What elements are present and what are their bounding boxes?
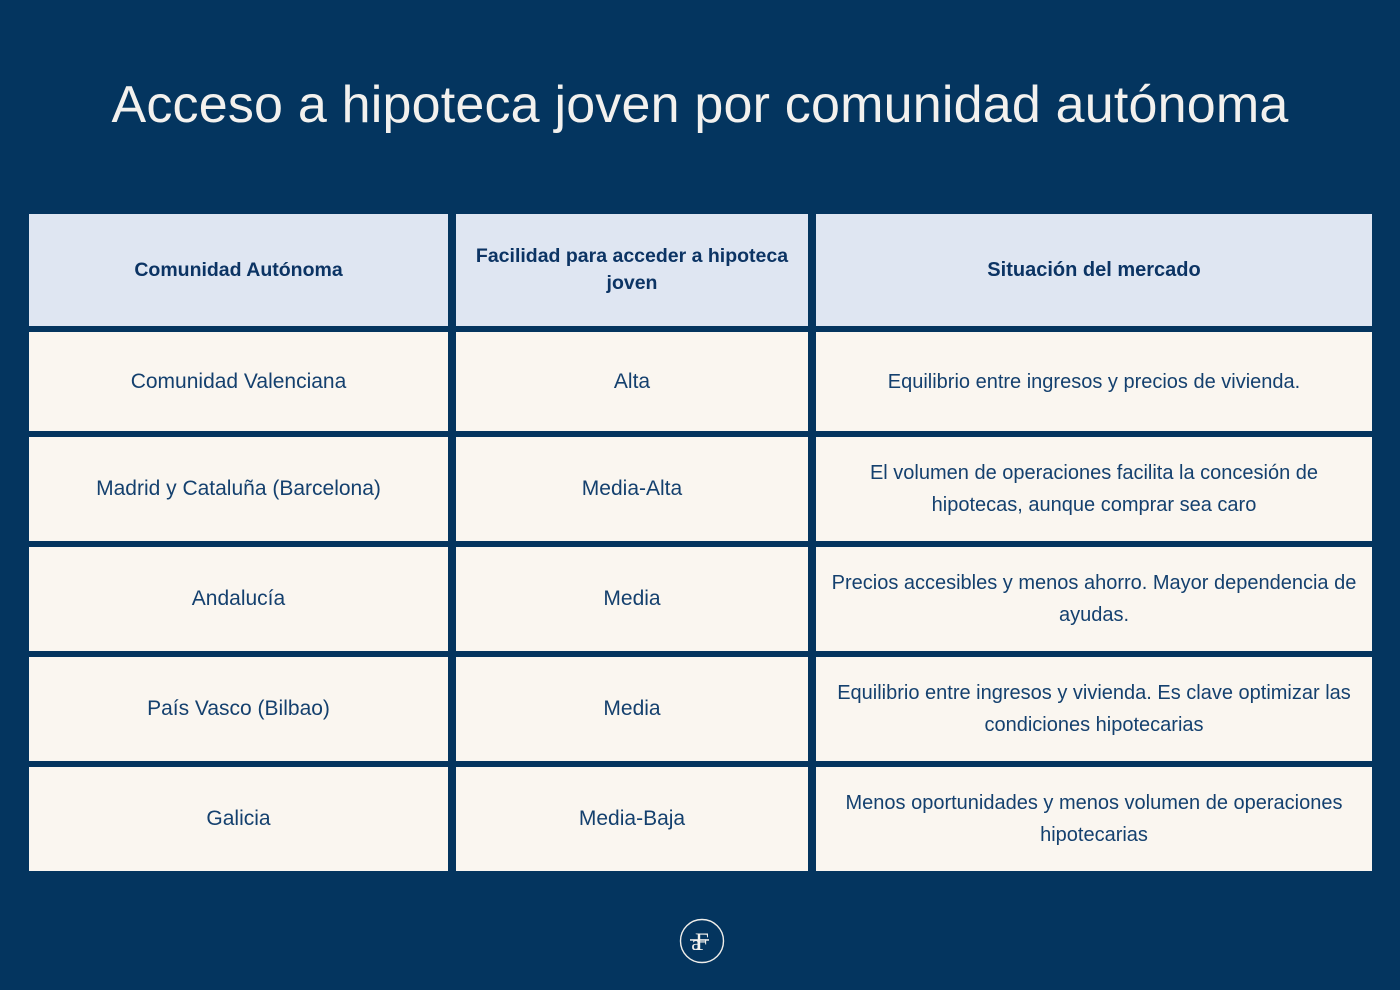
- table-row: Galicia Media-Baja Menos oportunidades y…: [29, 767, 1372, 871]
- cell-facilidad: Media-Baja: [456, 767, 808, 871]
- cell-situacion: El volumen de operaciones facilita la co…: [816, 437, 1372, 541]
- cell-comunidad: Comunidad Valenciana: [29, 332, 448, 431]
- cell-comunidad-text: País Vasco (Bilbao): [147, 693, 330, 725]
- comparison-table: Comunidad Autónoma Facilidad para accede…: [29, 214, 1372, 871]
- cell-situacion-text: Menos oportunidades y menos volumen de o…: [830, 787, 1358, 851]
- page-title: Acceso a hipoteca joven por comunidad au…: [0, 74, 1400, 136]
- cell-comunidad-text: Andalucía: [192, 583, 285, 615]
- table-row: País Vasco (Bilbao) Media Equilibrio ent…: [29, 657, 1372, 761]
- cell-facilidad: Media-Alta: [456, 437, 808, 541]
- cell-facilidad-text: Alta: [614, 366, 650, 398]
- cell-situacion-text: Equilibrio entre ingresos y vivienda. Es…: [830, 677, 1358, 741]
- cell-comunidad: Galicia: [29, 767, 448, 871]
- cell-facilidad-text: Media: [603, 693, 660, 725]
- cell-facilidad-text: Media-Alta: [582, 473, 682, 505]
- cell-situacion: Precios accesibles y menos ahorro. Mayor…: [816, 547, 1372, 651]
- cell-comunidad-text: Madrid y Cataluña (Barcelona): [96, 473, 381, 505]
- cell-facilidad: Media: [456, 547, 808, 651]
- column-header-facilidad: Facilidad para acceder a hipoteca joven: [456, 214, 808, 326]
- af-monogram-logo-icon: F a: [678, 917, 726, 965]
- column-header-facilidad-label: Facilidad para acceder a hipoteca joven: [470, 243, 794, 297]
- column-header-comunidad-label: Comunidad Autónoma: [134, 257, 342, 284]
- cell-situacion-text: Precios accesibles y menos ahorro. Mayor…: [830, 567, 1358, 631]
- cell-comunidad-text: Comunidad Valenciana: [131, 366, 347, 398]
- cell-facilidad: Media: [456, 657, 808, 761]
- cell-situacion-text: Equilibrio entre ingresos y precios de v…: [888, 366, 1300, 398]
- cell-comunidad: Madrid y Cataluña (Barcelona): [29, 437, 448, 541]
- cell-comunidad: Andalucía: [29, 547, 448, 651]
- cell-situacion: Menos oportunidades y menos volumen de o…: [816, 767, 1372, 871]
- column-header-situacion: Situación del mercado: [816, 214, 1372, 326]
- column-header-situacion-label: Situación del mercado: [987, 257, 1200, 284]
- cell-comunidad: País Vasco (Bilbao): [29, 657, 448, 761]
- column-header-comunidad: Comunidad Autónoma: [29, 214, 448, 326]
- cell-facilidad-text: Media: [603, 583, 660, 615]
- table-header-row: Comunidad Autónoma Facilidad para accede…: [29, 214, 1372, 326]
- svg-text:a: a: [691, 931, 701, 955]
- cell-facilidad-text: Media-Baja: [579, 803, 685, 835]
- table-row: Madrid y Cataluña (Barcelona) Media-Alta…: [29, 437, 1372, 541]
- cell-facilidad: Alta: [456, 332, 808, 431]
- table-row: Comunidad Valenciana Alta Equilibrio ent…: [29, 332, 1372, 431]
- cell-situacion: Equilibrio entre ingresos y precios de v…: [816, 332, 1372, 431]
- slide-root: Acceso a hipoteca joven por comunidad au…: [0, 0, 1400, 990]
- table-row: Andalucía Media Precios accesibles y men…: [29, 547, 1372, 651]
- cell-situacion: Equilibrio entre ingresos y vivienda. Es…: [816, 657, 1372, 761]
- cell-situacion-text: El volumen de operaciones facilita la co…: [830, 457, 1358, 521]
- cell-comunidad-text: Galicia: [206, 803, 270, 835]
